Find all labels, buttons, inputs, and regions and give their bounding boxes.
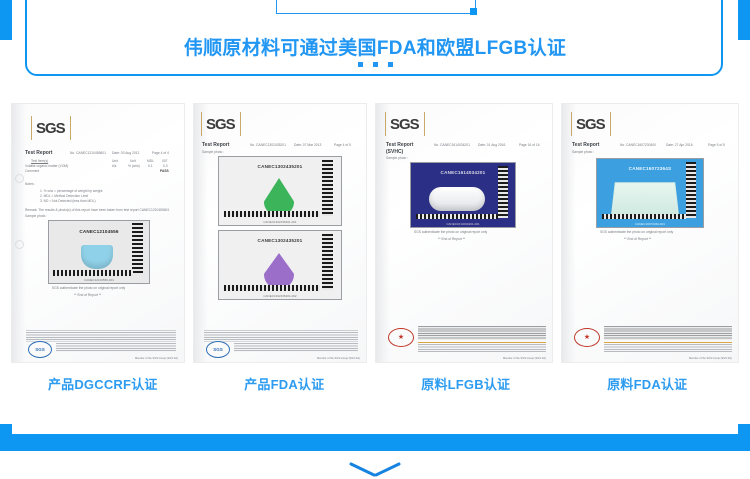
photo-caption: CANEC16072364-001 xyxy=(597,222,703,226)
footer-address-block xyxy=(604,344,732,352)
footer-text-block xyxy=(418,326,546,340)
certificate-card-3[interactable]: SGS Test Report (SVHC) No. CANEC16140342… xyxy=(376,104,552,362)
result-value: PASS xyxy=(160,169,169,173)
note-1: 1. % w/w = percentage of weight by weigh… xyxy=(40,189,102,193)
ruler-horizontal xyxy=(224,285,320,291)
punch-hole-top xyxy=(15,174,24,183)
product-bowl xyxy=(81,245,113,269)
report-title: Test Report xyxy=(25,150,52,156)
table-row-value: 0.3 xyxy=(163,164,168,168)
bottom-band-inner-white xyxy=(12,424,738,434)
sample-label: Sample photo : xyxy=(25,214,47,218)
sample-photo-2: CANEC1302435201 CANEC1302435201-002 xyxy=(218,230,342,300)
certificate-gallery: SGS Test Report No. CANEC1210455601 Date… xyxy=(0,104,750,364)
banner-title-box: 权威认证资质 xyxy=(276,0,476,14)
caption-dgccrf: 产品DGCCRF认证 xyxy=(12,374,194,400)
sgs-logo: SGS xyxy=(36,120,65,137)
footer-address-block xyxy=(418,344,546,352)
table-row-name: Volatile organic matter (VOM) xyxy=(25,164,68,168)
table-row-mdl: 0.1 xyxy=(148,164,153,168)
footer-rule xyxy=(26,330,176,331)
sample-photo-1: CANEC1302435201 CANEC1302435201-001 xyxy=(218,156,342,226)
auth-note: SGS authenticate the photo on original r… xyxy=(600,230,673,234)
page-title: 权威认证资质 xyxy=(310,0,442,1)
auth-note: SGS authenticate the photo on original r… xyxy=(52,286,125,290)
certificate-captions: 产品DGCCRF认证 产品FDA认证 原料LFGB认证 原料FDA认证 xyxy=(0,374,750,400)
certification-banner: 权威认证资质 伟顺原材料可通过美国FDA和欧盟LFGB认证 xyxy=(0,0,750,96)
title-corner-square xyxy=(470,8,477,15)
star-icon: ★ xyxy=(398,334,404,341)
certificate-card-2[interactable]: SGS Test Report No. CANEC1302435201 Date… xyxy=(194,104,366,362)
sample-label: Sample photo : xyxy=(386,156,408,160)
report-title: Test Report xyxy=(386,142,413,148)
ruler-vertical xyxy=(322,160,333,216)
dot-1 xyxy=(358,62,363,67)
table-header-result: 007 xyxy=(162,159,168,163)
sample-photo: CANEC12104556 CANEC12104556-001 xyxy=(48,220,150,284)
ruler-horizontal xyxy=(224,211,320,217)
report-page: Page 4 of 5 xyxy=(334,143,351,147)
sample-label: Sample photo : xyxy=(572,150,594,154)
product-case xyxy=(429,187,485,211)
dot-3 xyxy=(388,62,393,67)
report-page: Page 16 of 16 xyxy=(519,143,540,147)
caption-product-fda: 产品FDA认证 xyxy=(194,374,376,400)
sgs-logo: SGS xyxy=(390,116,419,133)
sgs-logo: SGS xyxy=(576,116,605,133)
report-page: Page 5 of 5 xyxy=(708,143,725,147)
remark-text: Remark: The results & photo(s) of this r… xyxy=(25,208,169,212)
punch-hole-bottom xyxy=(15,240,24,249)
footer-rule xyxy=(204,330,358,331)
ruler-horizontal xyxy=(602,214,686,219)
footer-note: Member of the SGS Group (SGS SA) xyxy=(135,357,178,360)
paper-shade xyxy=(12,104,26,362)
footer-note: Member of the SGS Group (SGS SA) xyxy=(317,357,360,360)
chevron-down-icon[interactable] xyxy=(345,462,405,478)
ruler-vertical xyxy=(322,234,333,290)
sgs-logo: SGS xyxy=(206,116,235,133)
report-title: Test Report xyxy=(202,142,229,148)
dot-2 xyxy=(373,62,378,67)
report-date: Date: 27 Apr 2016 xyxy=(666,143,693,147)
red-star-stamp: ★ xyxy=(388,328,414,347)
table-header-unit2: Unit xyxy=(130,159,136,163)
note-2: 2. MDL = Method Detection Limit xyxy=(40,194,88,198)
notes-label: Notes : xyxy=(25,182,35,186)
product-mat xyxy=(611,182,679,215)
sample-photo: CANEC16072364S CANEC16072364-001 xyxy=(596,158,704,228)
footer-note: Member of the SGS Group (SGS SA) xyxy=(689,357,732,360)
ruler-horizontal xyxy=(53,270,133,276)
sample-photo: CANEC1614034201 CANEC1614034201-001 xyxy=(410,162,516,228)
ruler-horizontal xyxy=(416,214,498,219)
footer-address-block xyxy=(56,343,176,352)
auth-note: SGS authenticate the photo on original r… xyxy=(414,230,487,234)
sample-label: Sample photo : xyxy=(202,150,224,154)
footer-text-block xyxy=(26,332,176,342)
photo-caption: CANEC12104556-001 xyxy=(49,278,149,282)
end-note: ** End of Report ** xyxy=(624,237,651,241)
sgs-stamp: SGS xyxy=(28,341,52,358)
footer-rule xyxy=(604,342,732,343)
footer-address-block xyxy=(234,343,358,352)
report-date: Date: 07 Mar 2013 xyxy=(294,143,321,147)
table-header-unit: Unit xyxy=(112,159,118,163)
red-star-stamp: ★ xyxy=(574,328,600,347)
certificate-card-1[interactable]: SGS Test Report No. CANEC1210455601 Date… xyxy=(12,104,184,362)
end-note: ** End of Report ** xyxy=(74,293,101,297)
photo-caption: CANEC1614034201-001 xyxy=(411,222,515,226)
result-label: Comment xyxy=(25,169,39,173)
sgs-stamp: SGS xyxy=(206,341,230,358)
report-date: Date: 03 Aug 2012 xyxy=(112,151,139,155)
report-number: No. CANEC1302435201 xyxy=(250,143,286,147)
report-number: No. CANEC1210455601 xyxy=(70,151,106,155)
dots-decoration xyxy=(0,62,750,67)
table-row-unit2: % (w/w) xyxy=(128,164,140,168)
banner-subtitle: 伟顺原材料可通过美国FDA和欧盟LFGB认证 xyxy=(0,33,750,60)
photo-caption: CANEC1302435201-002 xyxy=(219,294,341,298)
photo-caption: CANEC1302435201-001 xyxy=(219,220,341,224)
ruler-vertical xyxy=(686,162,696,218)
note-3: 3. ND = Not Detected (less than MDL) xyxy=(40,199,96,203)
report-date: Date: 01 Aug 2016 xyxy=(478,143,505,147)
footer-text-block xyxy=(604,326,732,340)
report-subtitle: (SVHC) xyxy=(386,149,403,155)
report-title: Test Report xyxy=(572,142,599,148)
table-header-mdl: MDL xyxy=(147,159,154,163)
footer-rule xyxy=(418,342,546,343)
table-row-unit: #/s xyxy=(112,164,116,168)
footer-note: Member of the SGS Group (SGS SA) xyxy=(503,357,546,360)
table-header-item: Test Item(s) xyxy=(31,159,48,163)
footer-text-block xyxy=(204,332,358,342)
caption-material-lfgb: 原料LFGB认证 xyxy=(375,374,557,400)
report-number: No. CANEC1614034201 xyxy=(434,143,470,147)
star-icon: ★ xyxy=(584,334,590,341)
end-note: ** End of Report ** xyxy=(438,237,465,241)
ruler-vertical xyxy=(498,166,508,218)
report-number: No. CANEC1607230400 xyxy=(620,143,656,147)
certificate-card-4[interactable]: SGS Test Report No. CANEC1607230400 Date… xyxy=(562,104,738,362)
ruler-vertical xyxy=(132,223,143,275)
report-page: Page 4 of 4 xyxy=(152,151,169,155)
caption-material-fda: 原料FDA认证 xyxy=(557,374,739,400)
